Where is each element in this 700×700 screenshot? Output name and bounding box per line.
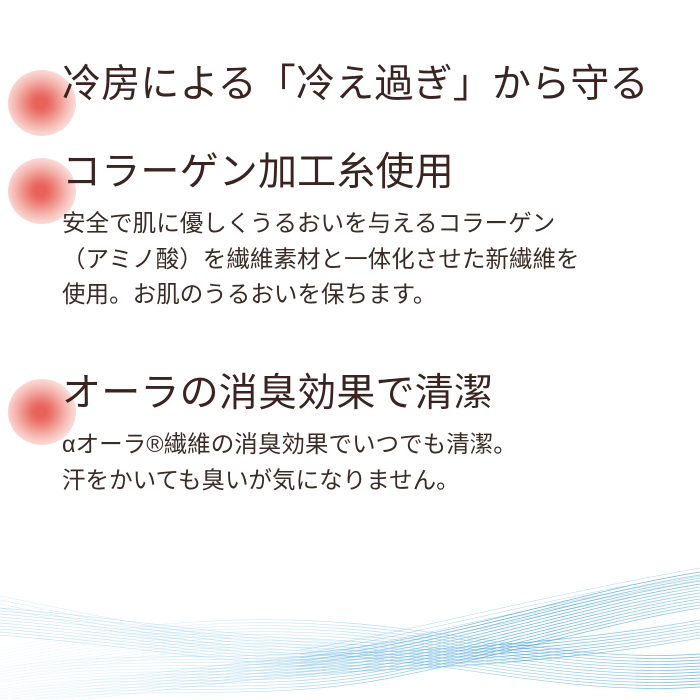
wave-pattern-svg	[0, 550, 700, 700]
feature-item-1: 冷房による「冷え過ぎ」から守る	[0, 62, 700, 108]
body-line: 使用。お肌のうるおいを保ちます。	[62, 277, 672, 313]
wave-band-e	[300, 568, 700, 666]
feature-body-2: 安全で肌に優しくうるおいを与えるコラーゲン （アミノ酸）を繊維素材と一体化させた…	[62, 206, 672, 313]
body-line: αオーラ®繊維の消臭効果でいつでも清潔。	[62, 427, 672, 463]
product-feature-page: 冷房による「冷え過ぎ」から守る コラーゲン加工糸使用 安全で肌に優しくうるおいを…	[0, 0, 700, 700]
body-line: 汗をかいても臭いが気になりません。	[62, 463, 672, 499]
feature-body-3: αオーラ®繊維の消臭効果でいつでも清潔。 汗をかいても臭いが気になりません。	[62, 427, 672, 498]
wave-band-a	[0, 572, 700, 700]
feature-item-3: オーラの消臭効果で清潔 αオーラ®繊維の消臭効果でいつでも清潔。 汗をかいても臭…	[0, 371, 700, 498]
feature-item-2: コラーゲン加工糸使用 安全で肌に優しくうるおいを与えるコラーゲン （アミノ酸）を…	[0, 150, 700, 313]
wave-band-b	[0, 620, 700, 689]
wave-band-c	[0, 590, 700, 669]
blue-wave-decoration	[0, 550, 700, 700]
feature-heading-1: 冷房による「冷え過ぎ」から守る	[62, 62, 686, 108]
feature-heading-3: オーラの消臭効果で清潔	[62, 371, 686, 417]
body-line: （アミノ酸）を繊維素材と一体化させた新繊維を	[62, 242, 672, 278]
wave-band-f	[0, 596, 230, 650]
wave-band-d	[0, 620, 700, 700]
feature-list: 冷房による「冷え過ぎ」から守る コラーゲン加工糸使用 安全で肌に優しくうるおいを…	[0, 0, 700, 499]
feature-heading-2: コラーゲン加工糸使用	[62, 150, 686, 196]
body-line: 安全で肌に優しくうるおいを与えるコラーゲン	[62, 206, 672, 242]
